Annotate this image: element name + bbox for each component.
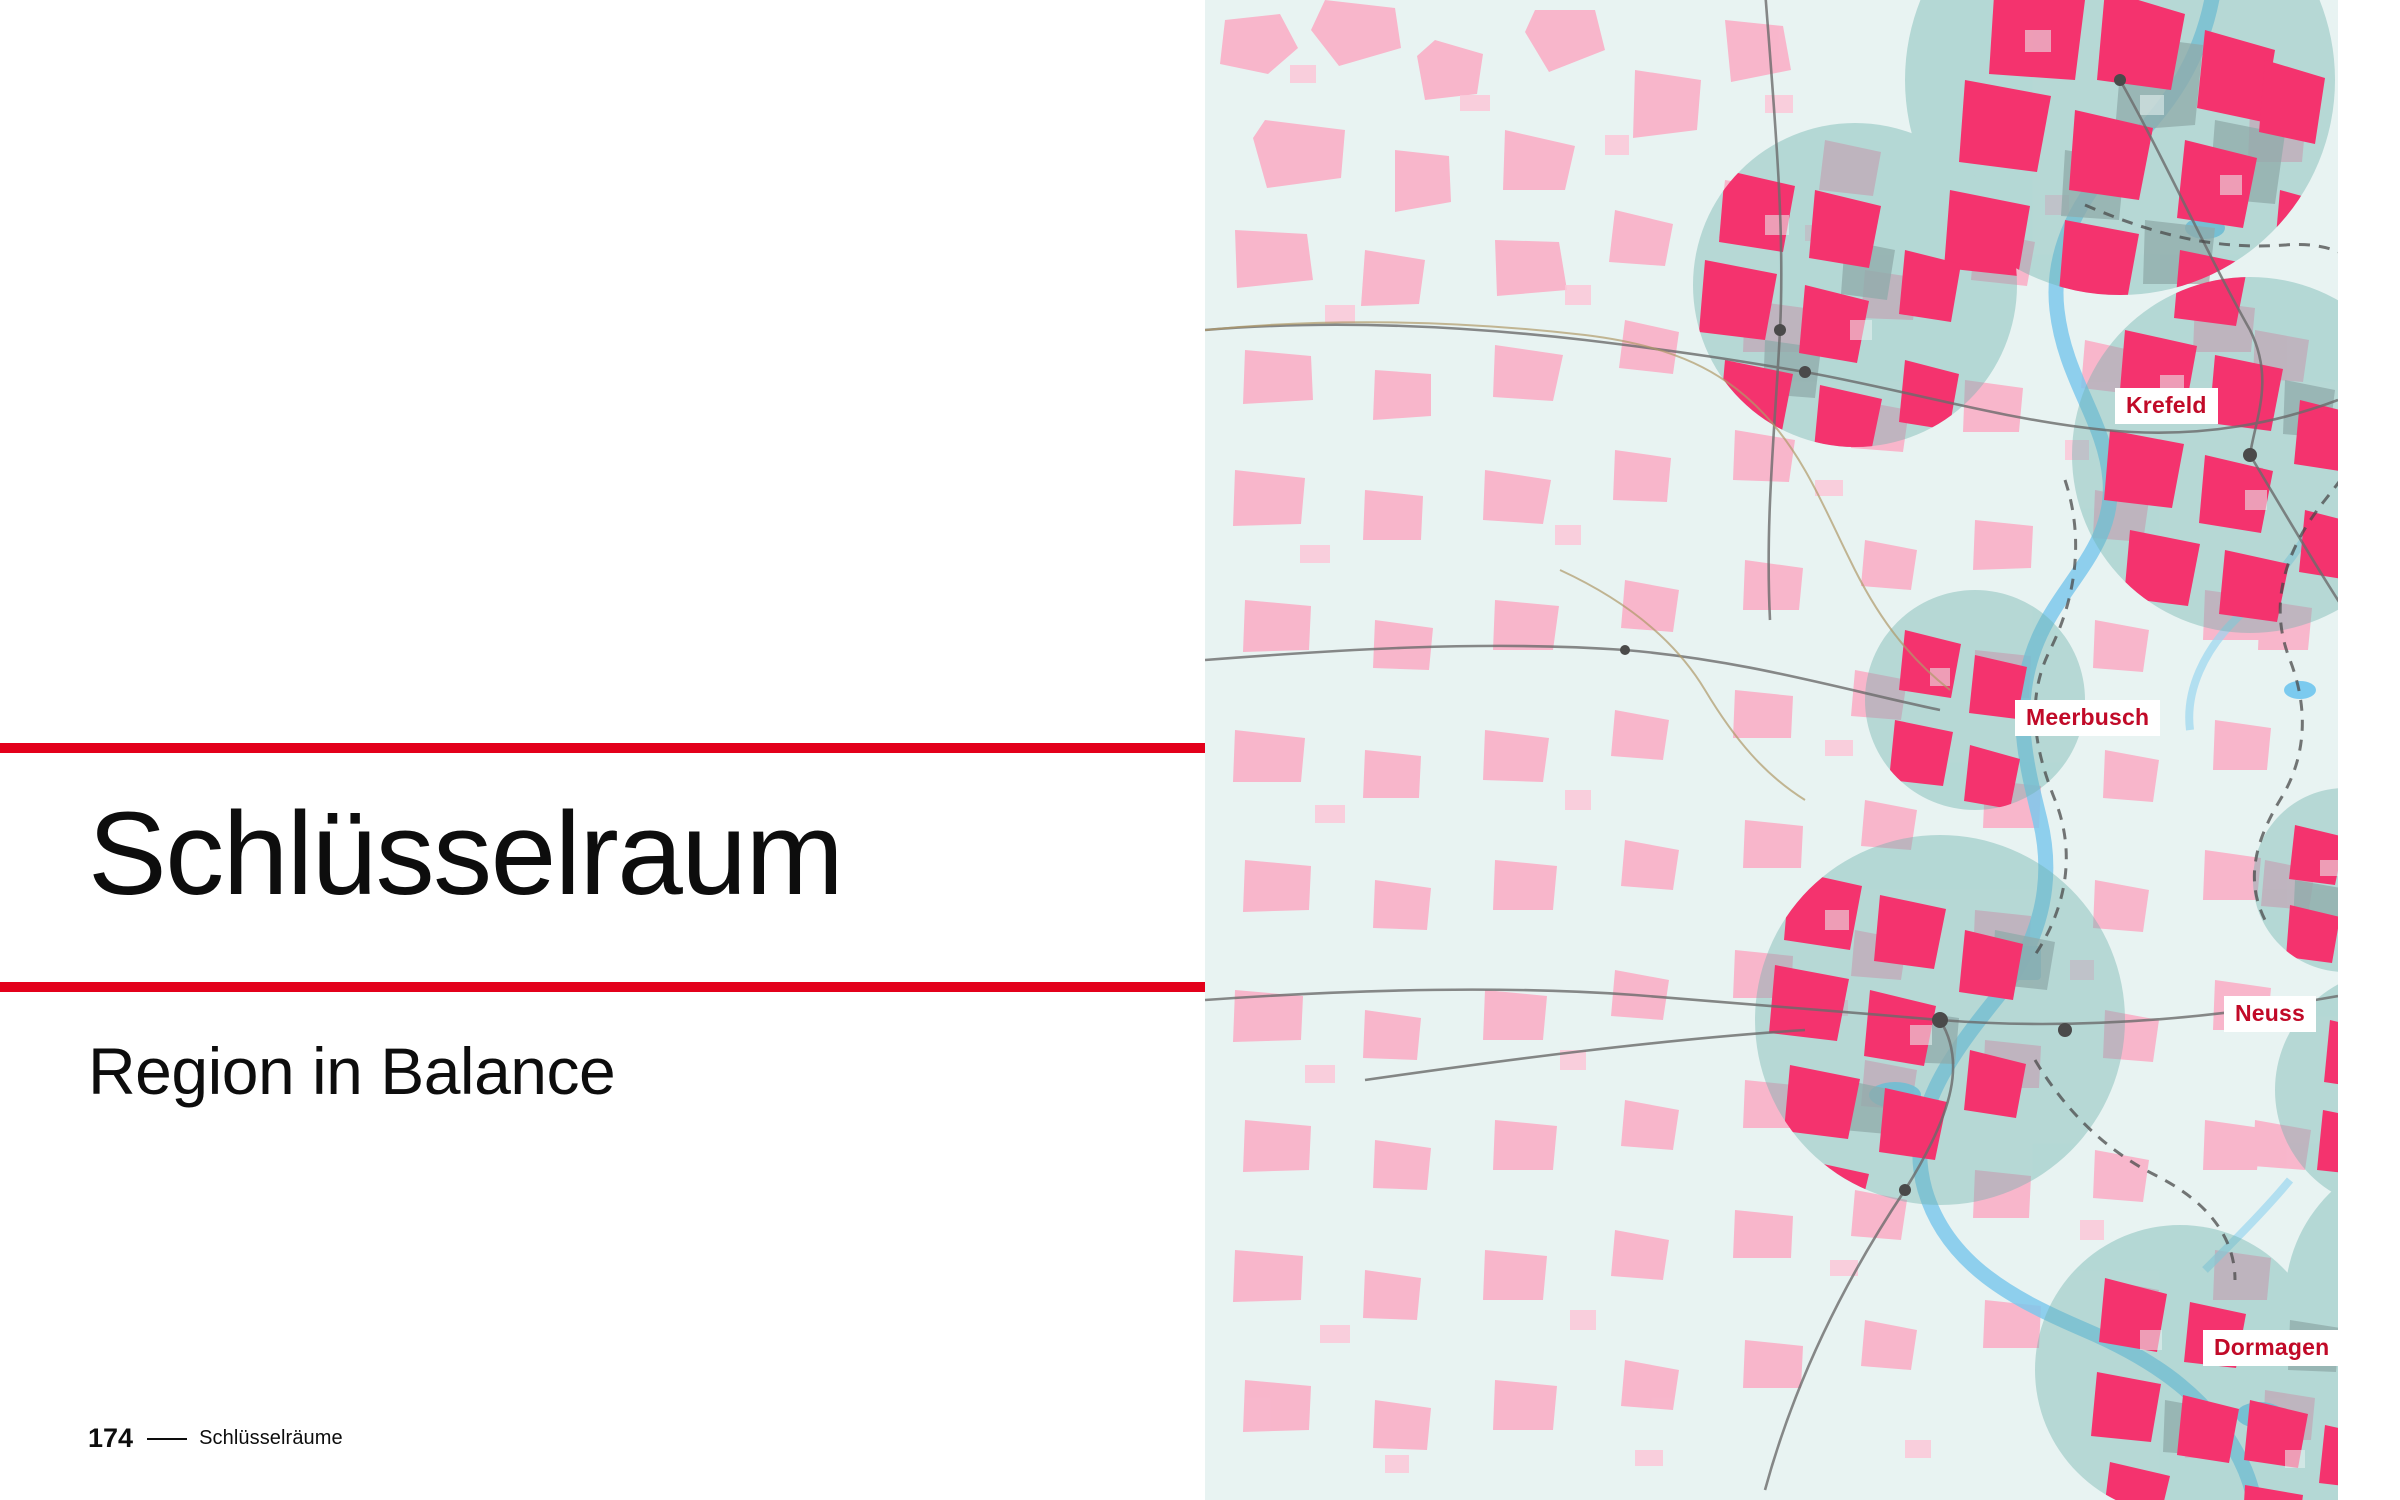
footer-dash-icon — [147, 1438, 187, 1440]
footer: 174 Schlüsselräume — [88, 1423, 343, 1454]
footer-section-name: Schlüsselräume — [199, 1427, 343, 1450]
city-label-meerbusch[interactable]: Meerbusch — [2015, 700, 2160, 736]
rule-below-title — [0, 982, 1205, 992]
title-column: Schlüsselraum Region in Balance 174 Schl… — [0, 0, 1205, 1500]
map-canvas[interactable]: Duisburg Krefeld Ratingen Meerbusch Mett… — [1205, 0, 2338, 1500]
map-graphic — [1205, 0, 2338, 1500]
page-root: Schlüsselraum Region in Balance 174 Schl… — [0, 0, 2400, 1500]
rule-above-title — [0, 743, 1205, 753]
page-subtitle: Region in Balance — [88, 1038, 1188, 1104]
page-number: 174 — [88, 1423, 133, 1454]
city-label-krefeld[interactable]: Krefeld — [2115, 388, 2218, 424]
map-panel: Duisburg Krefeld Ratingen Meerbusch Mett… — [1205, 0, 2400, 1500]
page-title: Schlüsselraum — [88, 795, 1188, 913]
city-label-neuss[interactable]: Neuss — [2224, 996, 2316, 1032]
city-label-dormagen[interactable]: Dormagen — [2203, 1330, 2338, 1366]
